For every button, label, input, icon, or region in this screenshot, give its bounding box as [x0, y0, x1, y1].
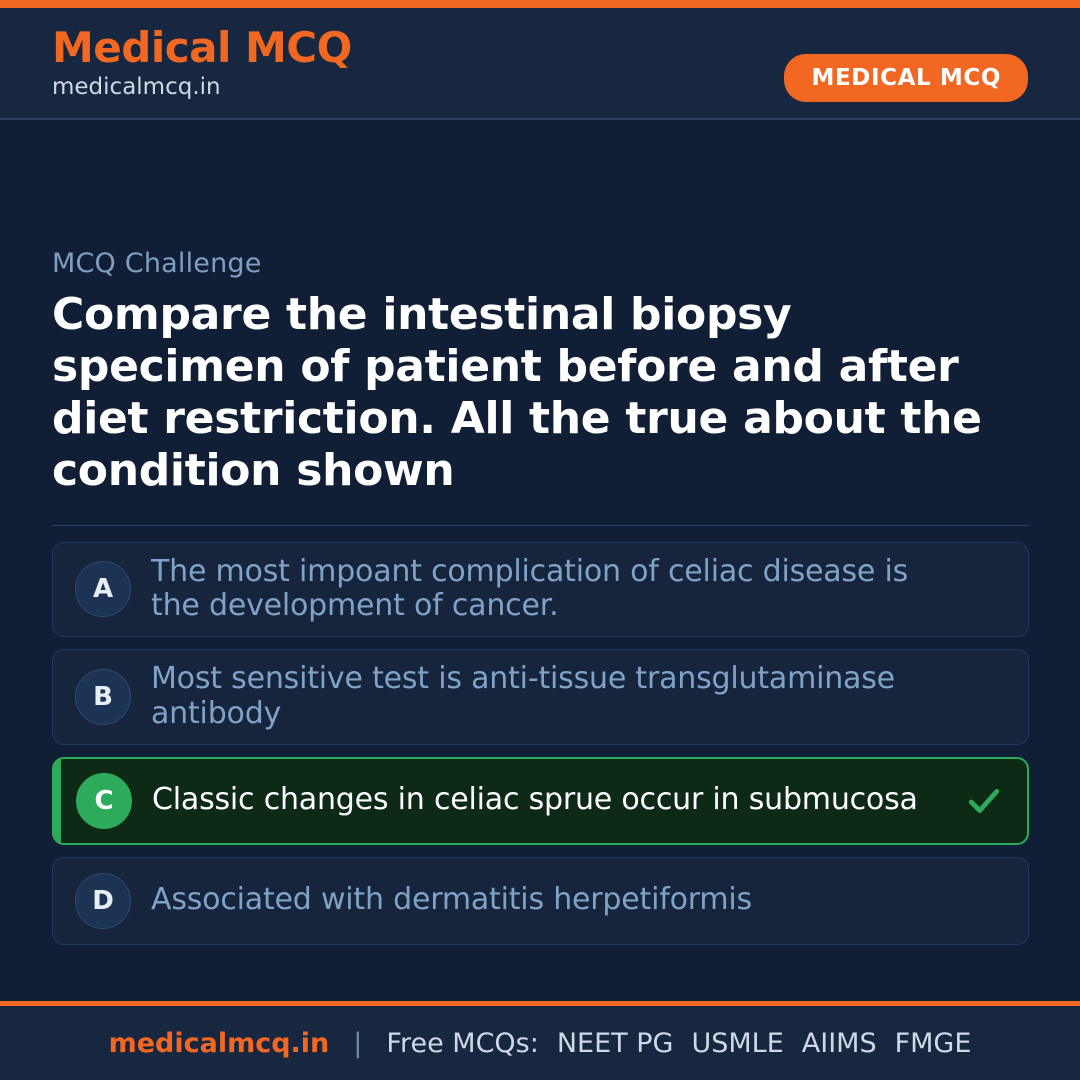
option-a-text: The most impoant complication of celiac … [151, 555, 1006, 625]
option-d-text: Associated with dermatitis herpetiformis [151, 883, 802, 918]
footer-exam-usmle: USMLE [673, 1028, 783, 1059]
section-eyebrow: MCQ Challenge [52, 248, 1028, 279]
option-b[interactable]: B Most sensitive test is anti-tissue tra… [52, 649, 1029, 745]
footer-separator: | [329, 1028, 386, 1059]
footer-site-link[interactable]: medicalmcq.in [109, 1028, 330, 1059]
brand-subtitle: medicalmcq.in [52, 75, 352, 100]
option-a[interactable]: A The most impoant complication of celia… [52, 542, 1029, 638]
option-b-text: Most sensitive test is anti-tissue trans… [151, 662, 1006, 732]
option-c-text: Classic changes in celiac sprue occur in… [152, 783, 968, 818]
options-list: A The most impoant complication of celia… [52, 542, 1028, 945]
brand-block: Medical MCQ medicalmcq.in [52, 26, 352, 100]
main-content: MCQ Challenge Compare the intestinal bio… [0, 120, 1080, 1001]
footer-exam-fmge: FMGE [877, 1028, 972, 1059]
option-b-letter: B [75, 669, 131, 725]
option-c[interactable]: C Classic changes in celiac sprue occur … [52, 757, 1029, 845]
footer: medicalmcq.in | Free MCQs: NEET PG USMLE… [0, 1006, 1080, 1080]
option-c-letter: C [76, 773, 132, 829]
header: Medical MCQ medicalmcq.in MEDICAL MCQ [0, 8, 1080, 120]
divider [52, 525, 1029, 526]
footer-exam-aiims: AIIMS [784, 1028, 877, 1059]
footer-exam-neetpg: NEET PG [539, 1028, 674, 1059]
check-icon [967, 784, 1001, 818]
option-d-letter: D [75, 873, 131, 929]
option-d[interactable]: D Associated with dermatitis herpetiform… [52, 857, 1029, 945]
option-a-letter: A [75, 561, 131, 617]
question-text: Compare the intestinal biopsy specimen o… [52, 289, 1028, 497]
mcq-card: Medical MCQ medicalmcq.in MEDICAL MCQ MC… [0, 0, 1080, 1080]
top-accent-bar [0, 0, 1080, 8]
footer-free-label: Free MCQs: [386, 1028, 538, 1059]
brand-title: Medical MCQ [52, 26, 352, 70]
header-badge: MEDICAL MCQ [784, 54, 1028, 102]
